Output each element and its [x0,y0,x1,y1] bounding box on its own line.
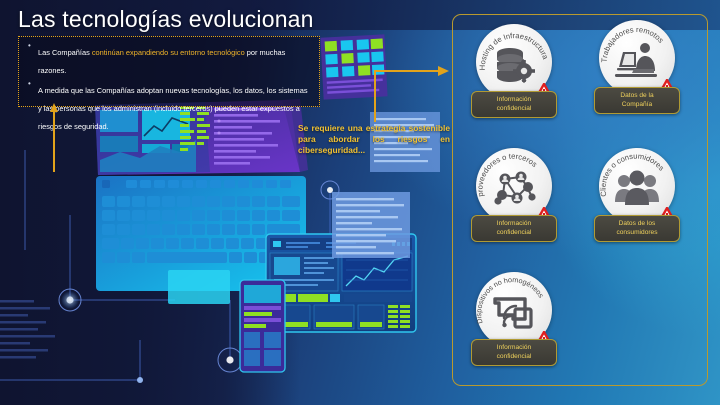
badge-clientes-consumidores[interactable]: Clientes o consumidores Datos de los con… [594,148,680,242]
badge-label: Datos de los consumidores [594,215,680,242]
badge-dispositivos-no-homogeneos[interactable]: Dispositivos no homogéneos Información c [471,272,557,366]
page-title: Las tecnologías evolucionan [18,6,314,33]
slide-canvas: Las tecnologías evolucionan Las Compañía… [0,0,720,405]
badge-label: Información confidencial [471,339,557,366]
list-item: A medida que las Compañías adoptan nueva… [26,80,312,134]
center-note: Se requiere una estrategia sostenible pa… [298,123,450,157]
badge-circle: Hosting de Infraestructura [476,24,552,100]
database-gear-icon [491,45,537,85]
badge-label: Información confidencial [471,215,557,242]
badge-label-line2: confidencial [497,229,532,236]
bullet-callout-box: Las Compañías continúan expandiendo su e… [18,36,320,107]
badge-label-line1: Datos de los [619,220,656,227]
badge-label-line2: Compañía [622,101,652,108]
badge-circle: Clientes o consumidores [599,148,675,224]
bullet-1-pre: Las Compañías [38,48,92,57]
wireless-display-icon [491,293,537,333]
badge-hosting-infraestructura[interactable]: Hosting de Infraestructura [471,24,557,118]
badge-label-line1: Información [497,220,531,227]
badge-label-line2: confidencial [497,105,532,112]
badge-circle: Trabajadores remotos [599,20,675,96]
bullet-1-highlight: continúan expandiendo su entorno tecnoló… [92,48,245,57]
people-group-icon [614,169,660,209]
badge-label-line1: Información [497,96,531,103]
badge-trabajadores-remotos[interactable]: Trabajadores remotos Datos de la Compañí… [594,20,680,114]
badge-circle: Dispositivos no homogéneos [476,272,552,348]
bullet-2-text: A medida que las Compañías adoptan nueva… [38,86,308,131]
badge-label: Información confidencial [471,91,557,118]
badge-label: Datos de la Compañía [594,87,680,114]
badge-label-line1: Datos de la [620,92,653,99]
badge-label-line2: consumidores [616,229,657,236]
network-nodes-icon [491,169,537,209]
badge-circle: proveedores o terceros [476,148,552,224]
badge-label-line2: confidencial [497,353,532,360]
badge-proveedores-terceros[interactable]: proveedores o terceros [471,148,557,242]
badge-label-line1: Información [497,344,531,351]
list-item: Las Compañías continúan expandiendo su e… [26,42,312,78]
remote-worker-icon [614,41,660,81]
